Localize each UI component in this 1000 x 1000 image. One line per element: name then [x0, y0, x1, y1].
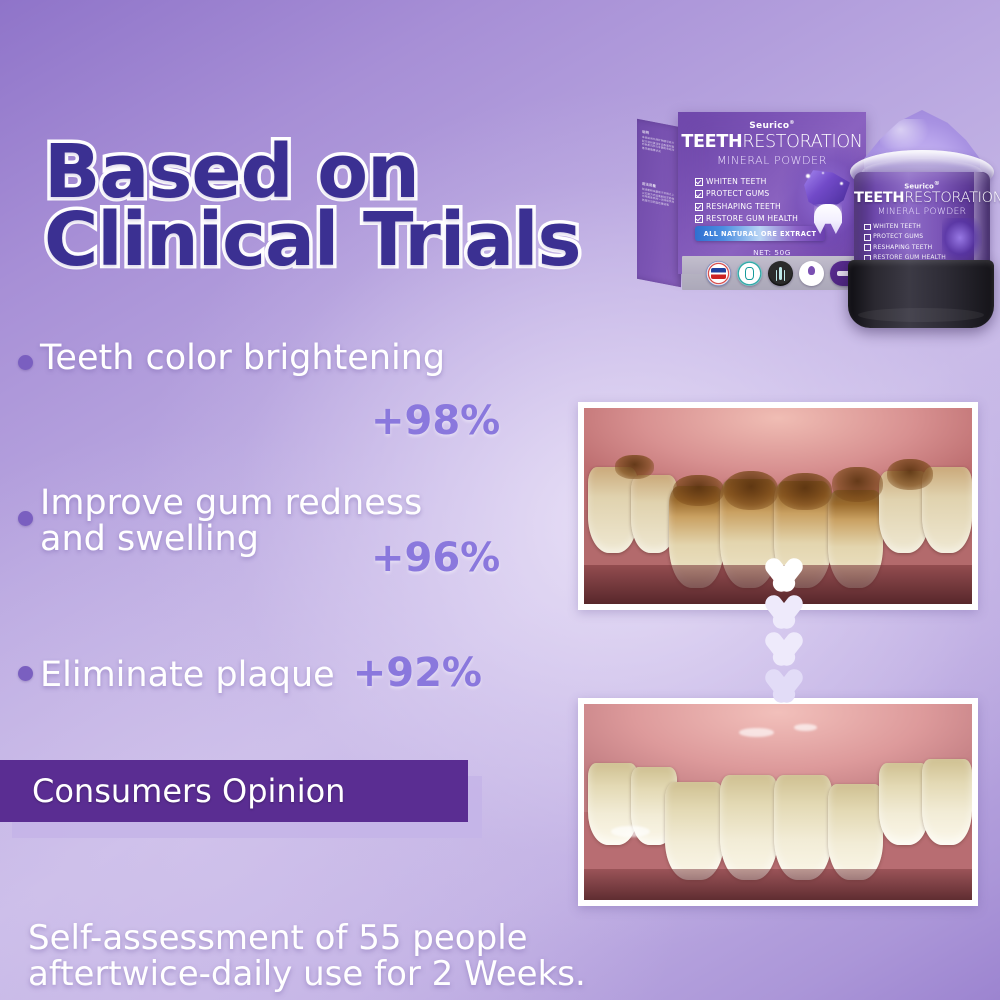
- jar-title-bold: TEETH: [854, 190, 904, 206]
- chevron-down-icon: [753, 634, 815, 668]
- feature-item: WHITEN TEETH: [864, 222, 946, 232]
- medical-caduceus-badge-icon: [768, 261, 793, 286]
- banner-bar: Consumers Opinion: [0, 760, 468, 822]
- side-panel-block-2: 用法用量 取适量粉末蘸取于牙刷之上以打圈方式轻柔刷洗牙面每日早晚各使用一次持续使…: [642, 182, 676, 210]
- sparkle-icon: [840, 182, 843, 185]
- tartar-stain: [832, 467, 882, 502]
- product-feature-list: WHITEN TEETH PROTECT GUMS RESHAPING TEET…: [695, 176, 798, 225]
- banner-label: Consumers Opinion: [0, 772, 345, 810]
- headline-line-2: Clinical Trials: [44, 206, 664, 274]
- jar-feature-list: WHITEN TEETH PROTECT GUMS RESHAPING TEET…: [864, 222, 946, 263]
- bullet-dot-icon: [18, 511, 33, 526]
- product-jar: Seurico® TEETHRESTORATION MINERAL POWDER…: [846, 110, 996, 332]
- tongue-region: [584, 869, 972, 900]
- benefit-label: Eliminate plaque: [40, 657, 335, 693]
- highlight: [611, 826, 650, 838]
- feature-label: WHITEN TEETH: [873, 222, 921, 232]
- tooth: [922, 759, 972, 845]
- bullet-dot-icon: [18, 666, 33, 681]
- feature-label: RESHAPING TEETH: [873, 243, 932, 253]
- benefit-percent: +96%: [371, 535, 500, 581]
- box-front-panel: Seurico® TEETHRESTORATION MINERAL POWDER…: [678, 112, 866, 274]
- tooth: [774, 775, 832, 881]
- jar-product-title: TEETHRESTORATION: [854, 190, 990, 206]
- benefit-label: Teeth color brightening: [0, 340, 445, 376]
- feature-item: PROTECT GUMS: [695, 188, 798, 200]
- product-title-bold: TEETH: [681, 132, 742, 152]
- tooth: [828, 784, 882, 880]
- chevron-down-icon: [753, 671, 815, 705]
- transition-arrows: [744, 560, 824, 720]
- benefit-percent: +98%: [371, 398, 500, 444]
- box-side-panel: 说明 本品采用天然矿物精华成分配方温和清洁牙齿表面附着的色素沉积与牙菌斑有效改善…: [637, 119, 681, 288]
- bullet-dot-icon: [18, 355, 33, 370]
- list-item: Teeth color brightening +98%: [0, 340, 445, 376]
- mouth-image-after: [584, 704, 972, 900]
- tartar-stain: [673, 475, 723, 506]
- checkbox-icon: [695, 190, 703, 198]
- list-item: Eliminate plaque +92%: [0, 650, 482, 696]
- tartar-stain: [615, 455, 654, 479]
- tooth: [720, 775, 778, 881]
- after-treatment-photo: [578, 698, 978, 906]
- feature-label: WHITEN TEETH: [706, 176, 767, 188]
- registered-mark: ®: [934, 181, 940, 187]
- feature-item: RESTORE GUM HEALTH: [695, 213, 798, 225]
- sparkle-icon: [806, 174, 810, 178]
- chevron-down-icon: [753, 560, 815, 594]
- product-subtitle: MINERAL POWDER: [678, 154, 866, 167]
- feature-item: PROTECT GUMS: [864, 232, 946, 242]
- footnote-text: Self-assessment of 55 people aftertwice-…: [28, 920, 648, 992]
- tartar-stain: [778, 473, 832, 510]
- dental-approved-badge-icon: [737, 261, 762, 286]
- chevron-down-icon: [753, 597, 815, 631]
- tooth: [665, 782, 723, 880]
- jar-black-base: [848, 260, 994, 328]
- feature-label: PROTECT GUMS: [873, 232, 923, 242]
- tooth-icon: [814, 204, 842, 234]
- tartar-stain: [724, 471, 778, 510]
- jar-label-body: Seurico® TEETHRESTORATION MINERAL POWDER…: [854, 172, 990, 272]
- product-title: TEETHRESTORATION: [678, 132, 866, 152]
- benefit-label: Improve gum redness and swelling: [0, 485, 422, 557]
- jar-title-light: RESTORATION: [904, 190, 1000, 206]
- checkbox-icon: [864, 244, 871, 251]
- clinical-tested-badge-icon: [799, 261, 824, 286]
- page-title: Based on Clinical Trials: [44, 138, 664, 274]
- advertisement-canvas: Based on Clinical Trials Teeth color bri…: [0, 0, 1000, 1000]
- checkbox-icon: [864, 224, 871, 231]
- checkbox-icon: [695, 178, 703, 186]
- product-title-light: RESTORATION: [742, 132, 862, 152]
- registered-mark: ®: [789, 120, 794, 126]
- us-flag-badge-icon: [706, 261, 731, 286]
- checkbox-icon: [695, 215, 703, 223]
- tartar-stain: [887, 459, 934, 490]
- feature-label: RESTORE GUM HEALTH: [706, 213, 798, 225]
- feature-label: PROTECT GUMS: [706, 188, 769, 200]
- feature-item: RESHAPING TEETH: [695, 201, 798, 213]
- brand-text: Seurico: [749, 121, 789, 131]
- after-photo-inner: [584, 704, 972, 900]
- feature-item: RESHAPING TEETH: [864, 243, 946, 253]
- jar-crystal-illustration: [942, 218, 982, 262]
- brand-name: Seurico®: [678, 120, 866, 131]
- jar-brand-name: Seurico®: [854, 181, 990, 190]
- list-item: Improve gum redness and swelling +96%: [0, 485, 422, 557]
- feature-label: RESHAPING TEETH: [706, 201, 781, 213]
- feature-item: WHITEN TEETH: [695, 176, 798, 188]
- checkbox-icon: [695, 203, 703, 211]
- sparkle-icon: [822, 172, 824, 174]
- checkbox-icon: [864, 234, 871, 241]
- consumers-opinion-banner: Consumers Opinion: [0, 760, 468, 822]
- benefit-percent: +92%: [353, 650, 482, 696]
- jar-subtitle: MINERAL POWDER: [854, 207, 990, 217]
- side-panel-block-1: 说明 本品采用天然矿物精华成分配方温和清洁牙齿表面附着的色素沉积与牙菌斑有效改善…: [642, 130, 676, 158]
